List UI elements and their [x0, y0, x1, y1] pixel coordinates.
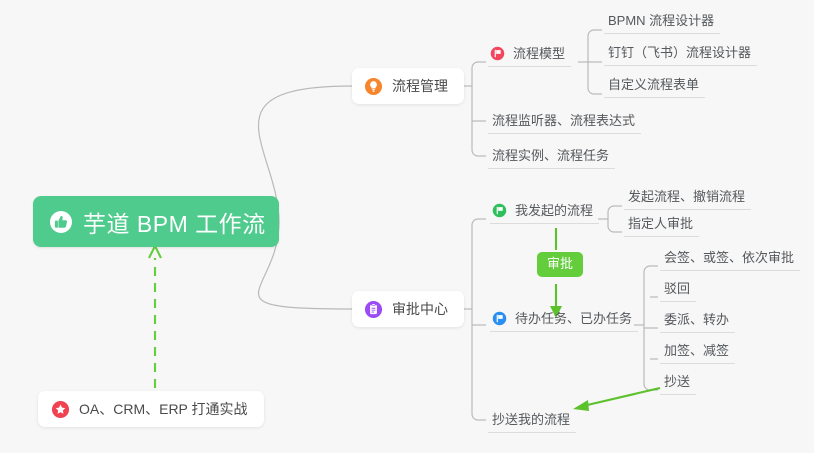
topic-label-carbon-copy: 抄送	[664, 374, 690, 389]
topic-label-custom-form: 自定义流程表单	[608, 77, 699, 92]
integration-practice-node[interactable]: OA、CRM、ERP 打通实战	[38, 391, 264, 427]
topic-bpmn-designer[interactable]: BPMN 流程设计器	[604, 12, 720, 34]
topic-label-reject: 驳回	[664, 281, 690, 296]
topic-label-cc-my-process: 抄送我的流程	[492, 412, 570, 427]
branch-label-approval-center: 审批中心	[392, 299, 448, 319]
flag-icon-green	[492, 203, 507, 218]
topic-label-start-cancel-process: 发起流程、撤销流程	[628, 189, 745, 204]
topic-label-listener-expression: 流程监听器、流程表达式	[492, 113, 635, 128]
clipboard-icon	[364, 300, 383, 319]
flag-icon-red	[490, 46, 505, 61]
branch-node-process-management[interactable]: 流程管理	[352, 68, 464, 104]
flag-icon-blue	[492, 311, 507, 326]
topic-add-remove-sign[interactable]: 加签、减签	[660, 342, 735, 364]
integration-practice-label: OA、CRM、ERP 打通实战	[79, 399, 248, 419]
topic-label-process-model: 流程模型	[513, 45, 565, 62]
topic-process-model[interactable]: 流程模型	[488, 45, 571, 67]
topic-label-delegate-transfer: 委派、转办	[664, 312, 729, 327]
topic-label-bpmn-designer: BPMN 流程设计器	[608, 13, 714, 28]
topic-label-add-remove-sign: 加签、减签	[664, 343, 729, 358]
topic-custom-form[interactable]: 自定义流程表单	[604, 76, 705, 98]
root-node[interactable]: 芋道 BPM 工作流	[33, 196, 279, 247]
topic-label-instance-task: 流程实例、流程任务	[492, 148, 609, 163]
topic-start-cancel-process[interactable]: 发起流程、撤销流程	[624, 188, 751, 210]
topic-reject[interactable]: 驳回	[660, 280, 696, 302]
topic-assignee-approval[interactable]: 指定人审批	[624, 215, 699, 237]
topic-cc-my-process[interactable]: 抄送我的流程	[488, 411, 576, 433]
topic-carbon-copy[interactable]: 抄送	[660, 373, 696, 395]
topic-label-my-started-process: 我发起的流程	[515, 202, 593, 219]
approval-chip-label: 审批	[547, 256, 573, 271]
topic-label-countersign: 会签、或签、依次审批	[664, 250, 794, 265]
topic-label-assignee-approval: 指定人审批	[628, 216, 693, 231]
branch-label-process-management: 流程管理	[392, 76, 448, 96]
lightbulb-icon	[364, 77, 383, 96]
topic-dingtalk-designer[interactable]: 钉钉（飞书）流程设计器	[604, 44, 757, 66]
mindmap-canvas: 芋道 BPM 工作流 流程管理 审批中心	[0, 0, 814, 453]
root-label: 芋道 BPM 工作流	[83, 205, 266, 239]
topic-instance-task[interactable]: 流程实例、流程任务	[488, 147, 615, 169]
thumbs-up-icon	[49, 210, 73, 234]
approval-chip[interactable]: 审批	[537, 252, 583, 277]
topic-label-dingtalk-designer: 钉钉（飞书）流程设计器	[608, 45, 751, 60]
topic-countersign[interactable]: 会签、或签、依次审批	[660, 249, 800, 271]
branch-node-approval-center[interactable]: 审批中心	[352, 291, 464, 327]
topic-listener-expression[interactable]: 流程监听器、流程表达式	[488, 112, 641, 134]
topic-label-todo-done-task: 待办任务、已办任务	[515, 310, 632, 327]
topic-delegate-transfer[interactable]: 委派、转办	[660, 311, 735, 333]
topic-todo-done-task[interactable]: 待办任务、已办任务	[490, 310, 638, 332]
star-icon	[51, 400, 70, 419]
topic-my-started-process[interactable]: 我发起的流程	[490, 202, 599, 224]
